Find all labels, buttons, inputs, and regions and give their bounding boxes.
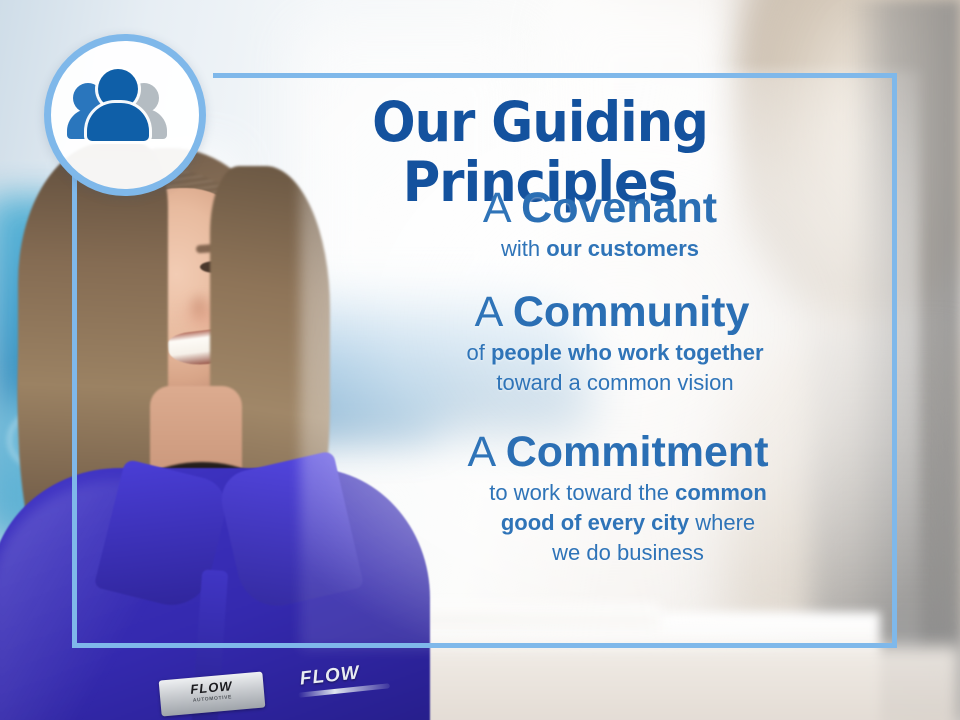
people-group-badge: [44, 34, 206, 196]
principle-community-article: A: [475, 288, 513, 336]
community-sub1-bold: people who work together: [491, 340, 764, 365]
guiding-principles-graphic: FLOW AUTOMOTIVE FLOW Our Guiding Princip…: [0, 0, 960, 720]
community-sub2-plain: toward a common vision: [496, 370, 733, 395]
commitment-sub1-plain: to work toward the: [489, 480, 675, 505]
principle-community-subline-2: toward a common vision: [300, 368, 900, 398]
principle-commitment-subline-3: we do business: [300, 538, 900, 568]
commitment-sub2-plain: where: [689, 510, 755, 535]
principle-community-keyword: Community: [513, 288, 750, 336]
frame-border-bottom: [72, 643, 897, 648]
covenant-sub-bold: our customers: [546, 236, 699, 261]
commitment-sub3-plain: we do business: [552, 540, 704, 565]
principle-commitment-keyword: Commitment: [506, 428, 769, 476]
commitment-sub1-bold: common: [675, 480, 767, 505]
principle-community-heading: A Community: [300, 286, 900, 338]
commitment-sub2-bold: good of every city: [501, 510, 689, 535]
community-sub1-plain: of: [466, 340, 490, 365]
principle-covenant-heading: A Covenant: [300, 182, 900, 234]
principle-commitment-subline-1: to work toward the common: [300, 478, 900, 508]
principles-list: A Covenant with our customers A Communit…: [300, 182, 900, 574]
principle-covenant: A Covenant with our customers: [300, 182, 900, 264]
covenant-sub-plain: with: [501, 236, 546, 261]
principle-covenant-article: A: [483, 184, 521, 232]
principle-community-subline-1: of people who work together: [300, 338, 900, 368]
principle-covenant-keyword: Covenant: [521, 184, 717, 232]
principle-commitment-subline-2: good of every city where: [300, 508, 900, 538]
principle-commitment: A Commitment to work toward the common g…: [300, 426, 900, 568]
principle-covenant-subline-1: with our customers: [300, 234, 900, 264]
principle-commitment-article: A: [467, 428, 505, 476]
frame-border-left: [72, 176, 77, 648]
principle-community: A Community of people who work together …: [300, 286, 900, 398]
nose: [186, 290, 212, 324]
people-group-icon: [71, 67, 165, 141]
frame-border-top: [213, 73, 897, 78]
principle-commitment-heading: A Commitment: [300, 426, 900, 478]
